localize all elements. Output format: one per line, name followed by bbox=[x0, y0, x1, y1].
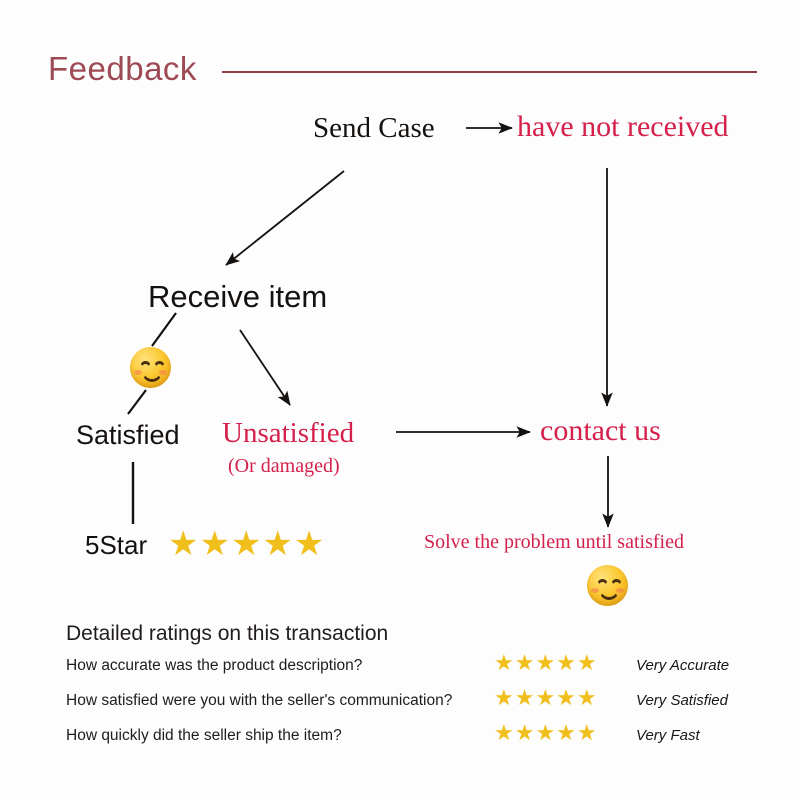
arrow-receive-item-to-unsatisfied bbox=[240, 330, 290, 405]
rating-row: How quickly did the seller ship the item… bbox=[66, 725, 766, 753]
five-star-rating-stars: ★★★★★ bbox=[168, 524, 325, 564]
flow-node-receive-item: Receive item bbox=[148, 279, 327, 315]
rating-row: How satisfied were you with the seller's… bbox=[66, 690, 766, 718]
flow-node-send-case: Send Case bbox=[313, 112, 435, 145]
page-title: Feedback bbox=[48, 50, 197, 88]
flow-node-have-not-received: have not received bbox=[517, 110, 729, 144]
rating-question: How satisfied were you with the seller's… bbox=[66, 692, 452, 710]
feedback-flowchart-page: Feedback Send Case have not received Rec… bbox=[0, 0, 800, 800]
flow-node-5star-label: 5Star bbox=[85, 530, 147, 561]
smiling-face-icon bbox=[587, 565, 628, 606]
rating-stars: ★★★★★ bbox=[494, 651, 598, 676]
rating-stars: ★★★★★ bbox=[494, 721, 598, 746]
rating-question: How quickly did the seller ship the item… bbox=[66, 727, 342, 745]
line-emoji-to-satisfied bbox=[128, 390, 146, 414]
ratings-section-title: Detailed ratings on this transaction bbox=[66, 622, 388, 646]
flow-node-unsatisfied: Unsatisfied bbox=[222, 417, 354, 450]
rating-value-label: Very Satisfied bbox=[636, 692, 728, 709]
smiling-face-icon bbox=[130, 347, 171, 388]
arrow-send-case-to-receive-item bbox=[226, 171, 344, 265]
line-receive-item-to-emoji bbox=[152, 313, 176, 346]
flow-node-contact-us: contact us bbox=[540, 414, 661, 448]
rating-value-label: Very Accurate bbox=[636, 657, 729, 674]
flow-node-or-damaged: (Or damaged) bbox=[228, 455, 340, 478]
flow-node-solve-until-satisfied: Solve the problem until satisfied bbox=[424, 531, 684, 554]
rating-value-label: Very Fast bbox=[636, 727, 700, 744]
flow-node-satisfied: Satisfied bbox=[76, 420, 180, 451]
rating-row: How accurate was the product description… bbox=[66, 655, 766, 683]
header-divider bbox=[222, 71, 757, 73]
rating-stars: ★★★★★ bbox=[494, 686, 598, 711]
rating-question: How accurate was the product description… bbox=[66, 657, 362, 675]
